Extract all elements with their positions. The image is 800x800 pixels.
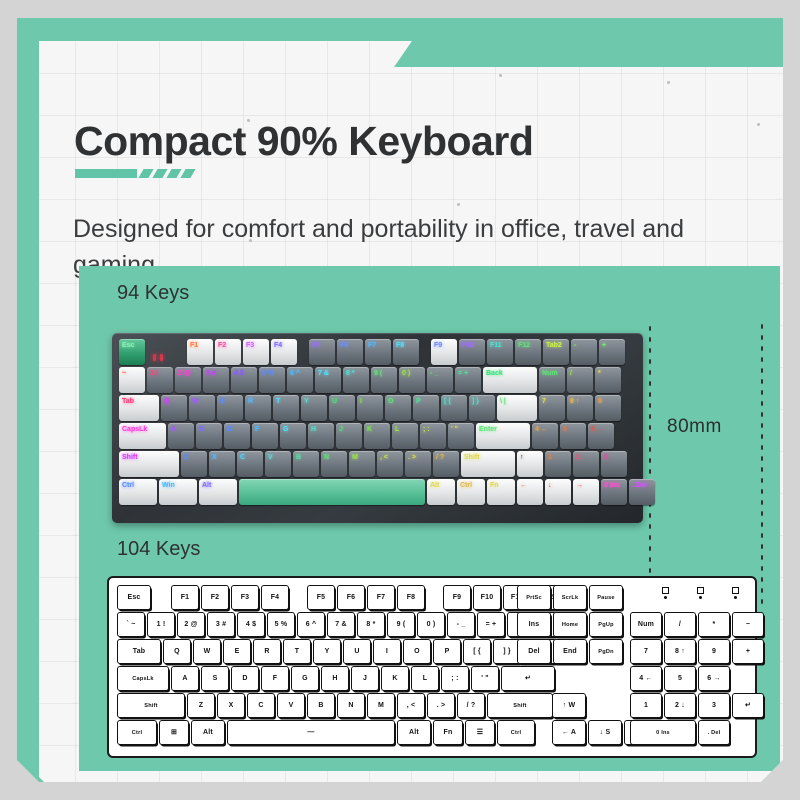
dark-key-row: CtrlWinAltAltCtrlFn←↓→0 Ins. Del (119, 479, 636, 505)
dark-key[interactable]: - _ (427, 367, 453, 393)
white-key[interactable]: F5 (307, 585, 335, 610)
white-key[interactable]: Ctrl (497, 720, 535, 745)
white-key[interactable]: 7 (630, 639, 662, 664)
dark-key[interactable]: = + (455, 367, 481, 393)
white-key[interactable]: [ { (463, 639, 491, 664)
dark-key[interactable]: 9 (595, 395, 621, 421)
white-key[interactable]: ← A (552, 720, 586, 745)
indicator-light: ↥ (732, 587, 739, 599)
white-key[interactable]: 8 * (357, 612, 385, 637)
dark-key[interactable]: J (336, 423, 362, 449)
dark-key[interactable]: Num (539, 367, 565, 393)
white-key[interactable]: O (403, 639, 431, 664)
white-key[interactable]: 8 ↑ (664, 639, 696, 664)
dark-key[interactable]: Alt (427, 479, 455, 505)
white-key[interactable]: 1 ! (147, 612, 175, 637)
dark-key[interactable]: . > (405, 451, 431, 477)
dark-key[interactable]: 4 $ (231, 367, 257, 393)
white-key[interactable]: − (732, 612, 764, 637)
dark-key[interactable]: 5 (560, 423, 586, 449)
dark-key[interactable]: P (413, 395, 439, 421)
dark-key[interactable]: Shift (119, 451, 179, 477)
dark-key[interactable]: Tab (119, 395, 159, 421)
dark-key[interactable]: , < (377, 451, 403, 477)
white-key[interactable]: Num (630, 612, 662, 637)
white-key[interactable]: ↵ (732, 693, 764, 718)
white-key[interactable]: = + (477, 612, 505, 637)
white-key[interactable]: W (193, 639, 221, 664)
dark-key[interactable]: ; : (420, 423, 446, 449)
white-key[interactable]: PrtSc (517, 585, 551, 610)
white-key[interactable]: * (698, 612, 730, 637)
dark-key[interactable]: F6 (337, 339, 363, 365)
white-kb-main-cluster: EscF1F2F3F4F5F6F7F8F9F10F11F12` ~1 !2 @3… (117, 585, 561, 747)
white-key[interactable]: F2 (201, 585, 229, 610)
white-key[interactable]: X (217, 693, 245, 718)
white-key[interactable]: Pause (589, 585, 623, 610)
white-key-row: Ctrl⊞Alt—AltFn☰Ctrl (117, 720, 561, 745)
white-key[interactable]: End (553, 639, 587, 664)
white-key[interactable]: Y (313, 639, 341, 664)
dark-key[interactable]: 5 % (259, 367, 285, 393)
dark-key[interactable]: 7 (539, 395, 565, 421)
dark-key[interactable]: Y (301, 395, 327, 421)
dark-key[interactable]: ↓ (545, 479, 571, 505)
dark-key[interactable]: 8 ↑ (567, 395, 593, 421)
dark-key[interactable]: F5 (309, 339, 335, 365)
white-key-row: 78 ↑9+ (630, 639, 764, 664)
poster: Compact 90% Keyboard Designed for comfor… (0, 0, 800, 800)
dark-key[interactable]: F4 (271, 339, 297, 365)
dark-key[interactable]: F7 (365, 339, 391, 365)
paper-area: Compact 90% Keyboard Designed for comfor… (39, 41, 795, 795)
white-key[interactable]: ScrLk (553, 585, 587, 610)
product-panel: 94 Keys 104 Keys 80mm EscF1F2F3F4F5F6F7F… (79, 266, 780, 771)
label-104-keys: 104 Keys (117, 538, 200, 561)
white-key-row: 12 ↓3↵ (630, 693, 764, 718)
dark-key[interactable]: 3 (601, 451, 627, 477)
dark-key[interactable]: F12 (515, 339, 541, 365)
dark-key[interactable]: Ctrl (457, 479, 485, 505)
white-key[interactable]: F3 (231, 585, 259, 610)
dark-key[interactable]: ← (517, 479, 543, 505)
dark-key[interactable]: F10 (459, 339, 485, 365)
white-key[interactable]: CapsLk (117, 666, 169, 691)
dark-key[interactable]: / (567, 367, 593, 393)
dark-key[interactable]: ] } (469, 395, 495, 421)
white-key[interactable]: F6 (337, 585, 365, 610)
white-key[interactable]: F7 (367, 585, 395, 610)
dark-key[interactable]: N (321, 451, 347, 477)
white-key-row: DelEndPgDn (517, 639, 623, 664)
white-key-row: InsHomePgUp (517, 612, 623, 637)
dark-key[interactable]: Q (161, 395, 187, 421)
dark-key[interactable]: G (280, 423, 306, 449)
white-key[interactable]: B (307, 693, 335, 718)
white-key[interactable]: / (664, 612, 696, 637)
outer-green-frame: Compact 90% Keyboard Designed for comfor… (17, 18, 783, 782)
dark-key[interactable]: + (599, 339, 625, 365)
dark-key[interactable]: . Del (629, 479, 655, 505)
dark-key[interactable]: Esc (119, 339, 145, 365)
title-accent-rule (75, 169, 180, 178)
dark-key[interactable]: [ { (441, 395, 467, 421)
white-key-row: ` ~1 !2 @3 #4 $5 %6 ^7 &8 *9 (0 )- _= +← (117, 612, 561, 637)
dark-key[interactable]: * (595, 367, 621, 393)
white-key[interactable]: Alt (397, 720, 431, 745)
key-gap (421, 339, 429, 365)
dark-key[interactable]: 4 ← (532, 423, 558, 449)
white-key[interactable]: - _ (447, 612, 475, 637)
dark-key[interactable]: - (571, 339, 597, 365)
white-key-row: 4 ←56 → (630, 666, 764, 691)
key-gap (291, 585, 305, 610)
white-key[interactable]: Ins (517, 612, 551, 637)
dark-key[interactable]: 6 → (588, 423, 614, 449)
dark-key[interactable]: F2 (215, 339, 241, 365)
white-key[interactable]: 2 ↓ (664, 693, 696, 718)
white-key[interactable]: . > (427, 693, 455, 718)
white-key-row: EscF1F2F3F4F5F6F7F8F9F10F11F12 (117, 585, 561, 610)
dark-key-row: ~1 !2 @3 #4 $5 %6 ^7 &8 *9 (0 )- _= +Bac… (119, 367, 636, 393)
white-key[interactable]: R (253, 639, 281, 664)
dark-key[interactable]: T (273, 395, 299, 421)
dark-key[interactable]: 2 @ (175, 367, 201, 393)
white-key[interactable]: / ? (457, 693, 485, 718)
white-key[interactable]: J (351, 666, 379, 691)
white-key[interactable]: F10 (473, 585, 501, 610)
dark-key[interactable]: CapsLk (119, 423, 166, 449)
dark-key[interactable]: / ? (433, 451, 459, 477)
dark-key[interactable]: → (573, 479, 599, 505)
dark-key[interactable]: F8 (393, 339, 419, 365)
dark-key[interactable]: 0 ) (399, 367, 425, 393)
dark-key[interactable]: A (168, 423, 194, 449)
white-key[interactable]: 2 @ (177, 612, 205, 637)
dark-key[interactable]: 3 # (203, 367, 229, 393)
white-kb-indicator-lights: 1A↥ (662, 587, 739, 599)
white-key[interactable]: Q (163, 639, 191, 664)
status-led-group (147, 339, 185, 365)
white-key[interactable]: Alt (191, 720, 225, 745)
dark-key-row: TabQWERTYUIOP[ {] }\ |78 ↑9 (119, 395, 636, 421)
dark-key[interactable]: F9 (431, 339, 457, 365)
dark-key[interactable] (239, 479, 425, 505)
white-key-row: ShiftZXCVBNM, <. >/ ?Shift (117, 693, 561, 718)
label-94-keys: 94 Keys (117, 282, 189, 305)
white-key[interactable]: 3 (698, 693, 730, 718)
indicator-light: 1 (662, 587, 669, 599)
white-key[interactable]: 5 % (267, 612, 295, 637)
dark-key[interactable]: R (245, 395, 271, 421)
white-key-row: PrtScScrLkPause (517, 585, 623, 610)
white-key[interactable]: G (291, 666, 319, 691)
white-key[interactable]: Del (517, 639, 551, 664)
white-key[interactable]: U (343, 639, 371, 664)
dark-key[interactable]: D (224, 423, 250, 449)
white-kb-numpad-cluster: Num/*−78 ↑9+4 ←56 →12 ↓3↵0 Ins. Del (630, 612, 764, 747)
white-key[interactable]: , < (397, 693, 425, 718)
dark-key[interactable]: 8 * (343, 367, 369, 393)
white-key[interactable]: P (433, 639, 461, 664)
dark-key[interactable]: L (392, 423, 418, 449)
dark-key[interactable]: F (252, 423, 278, 449)
white-key[interactable]: S (201, 666, 229, 691)
white-key[interactable]: F1 (171, 585, 199, 610)
white-key[interactable]: F8 (397, 585, 425, 610)
dark-key[interactable]: Alt (199, 479, 237, 505)
dark-key[interactable]: Tab2 (543, 339, 569, 365)
dark-key[interactable]: F3 (243, 339, 269, 365)
white-key[interactable]: L (411, 666, 439, 691)
dark-key[interactable]: U (329, 395, 355, 421)
white-key[interactable]: Shift (487, 693, 553, 718)
white-key[interactable]: ; : (441, 666, 469, 691)
dark-key[interactable]: X (209, 451, 235, 477)
dark-key[interactable]: 7 & (315, 367, 341, 393)
dark-key[interactable]: K (364, 423, 390, 449)
measure-dotted-line-left (648, 323, 652, 583)
white-key[interactable]: ☰ (465, 720, 495, 745)
white-key[interactable]: E (223, 639, 251, 664)
dark-key[interactable]: ~ (119, 367, 145, 393)
indicator-light: A (697, 587, 704, 599)
white-key[interactable]: ' " (471, 666, 499, 691)
white-key[interactable]: 5 (664, 666, 696, 691)
white-key[interactable]: Esc (117, 585, 151, 610)
dark-key[interactable]: 1 (545, 451, 571, 477)
dark-key[interactable]: Win (159, 479, 197, 505)
dark-key[interactable]: 6 ^ (287, 367, 313, 393)
white-key[interactable]: PgDn (589, 639, 623, 664)
dark-key[interactable]: Ctrl (119, 479, 157, 505)
white-key[interactable]: Ctrl (117, 720, 157, 745)
dark-key[interactable]: 0 Ins (601, 479, 627, 505)
white-key[interactable]: 1 (630, 693, 662, 718)
key-gap (153, 585, 169, 610)
dimension-label-80mm: 80mm (667, 416, 722, 438)
white-key[interactable]: V (277, 693, 305, 718)
white-key[interactable]: N (337, 693, 365, 718)
white-key[interactable]: Home (553, 612, 587, 637)
white-key[interactable]: 0 Ins (630, 720, 696, 745)
white-key[interactable]: 3 # (207, 612, 235, 637)
white-key[interactable]: K (381, 666, 409, 691)
white-key[interactable]: Fn (433, 720, 463, 745)
dark-key[interactable]: C (237, 451, 263, 477)
white-key[interactable]: F (261, 666, 289, 691)
white-key[interactable]: M (367, 693, 395, 718)
white-key[interactable]: T (283, 639, 311, 664)
white-key[interactable]: Tab (117, 639, 161, 664)
dark-key[interactable]: W (189, 395, 215, 421)
white-key-row: TabQWERTYUIOP[ {] }\ | (117, 639, 561, 664)
white-key[interactable]: + (732, 639, 764, 664)
dark-rgb-keyboard[interactable]: EscF1F2F3F4F5F6F7F8F9F10F11F12Tab2-+~1 !… (112, 333, 643, 523)
white-key[interactable]: F4 (261, 585, 289, 610)
white-key[interactable]: ⊞ (159, 720, 189, 745)
dark-key[interactable]: F11 (487, 339, 513, 365)
dark-key[interactable]: Shift (461, 451, 515, 477)
white-key[interactable]: A (171, 666, 199, 691)
white-kb-nav-cluster: PrtScScrLkPauseInsHomePgUpDelEndPgDn (517, 585, 623, 666)
dark-key-row: CapsLkASDFGHJKL; :' "Enter4 ←56 → (119, 423, 636, 449)
white-key[interactable]: 9 ( (387, 612, 415, 637)
measure-dotted-line-right (760, 321, 764, 609)
dark-key[interactable]: 1 ! (147, 367, 173, 393)
dark-key-row: ShiftZXCVBNM, <. >/ ?Shift↑12 ↓3 (119, 451, 636, 477)
white-key[interactable]: ↑ W (552, 693, 586, 718)
key-gap (299, 339, 307, 365)
white-key[interactable]: PgUp (589, 612, 623, 637)
white-key[interactable]: Shift (117, 693, 185, 718)
white-key[interactable]: I (373, 639, 401, 664)
page-title: Compact 90% Keyboard (74, 118, 533, 165)
white-key-row: CapsLkASDFGHJKL; :' "↵ (117, 666, 561, 691)
dark-key[interactable]: F1 (187, 339, 213, 365)
dark-key-row: EscF1F2F3F4F5F6F7F8F9F10F11F12Tab2-+ (119, 339, 636, 365)
dark-key[interactable]: \ | (497, 395, 537, 421)
dark-key[interactable]: O (385, 395, 411, 421)
dark-key[interactable]: 2 ↓ (573, 451, 599, 477)
dark-key[interactable]: V (265, 451, 291, 477)
white-lineart-keyboard[interactable]: EscF1F2F3F4F5F6F7F8F9F10F11F12` ~1 !2 @3… (107, 576, 757, 758)
white-key[interactable]: Z (187, 693, 215, 718)
white-key[interactable]: . Del (698, 720, 730, 745)
dark-key[interactable]: ↑ (517, 451, 543, 477)
dark-key[interactable]: H (308, 423, 334, 449)
white-key[interactable]: 6 ^ (297, 612, 325, 637)
white-key[interactable]: 9 (698, 639, 730, 664)
white-key[interactable]: C (247, 693, 275, 718)
dark-key[interactable]: Z (181, 451, 207, 477)
white-key[interactable]: — (227, 720, 395, 745)
white-key[interactable]: 4 ← (630, 666, 662, 691)
dark-key[interactable]: S (196, 423, 222, 449)
white-key[interactable]: 6 → (698, 666, 730, 691)
white-key[interactable]: F9 (443, 585, 471, 610)
white-key[interactable]: 7 & (327, 612, 355, 637)
dark-key[interactable]: ' " (448, 423, 474, 449)
key-gap (427, 585, 441, 610)
dark-key[interactable]: E (217, 395, 243, 421)
dark-key[interactable]: Back (483, 367, 537, 393)
dark-key[interactable]: Enter (476, 423, 530, 449)
white-key[interactable]: H (321, 666, 349, 691)
dark-key[interactable]: Fn (487, 479, 515, 505)
white-key[interactable]: 0 ) (417, 612, 445, 637)
white-key[interactable]: 4 $ (237, 612, 265, 637)
white-key[interactable]: ` ~ (117, 612, 145, 637)
dark-key[interactable]: M (349, 451, 375, 477)
dark-key[interactable]: 9 ( (371, 367, 397, 393)
white-key-row: Num/*− (630, 612, 764, 637)
white-key-row: 0 Ins. Del (630, 720, 764, 745)
dark-key[interactable]: B (293, 451, 319, 477)
white-key[interactable]: ↓ S (588, 720, 622, 745)
white-key[interactable]: ↵ (501, 666, 555, 691)
white-key[interactable]: D (231, 666, 259, 691)
dark-key[interactable]: I (357, 395, 383, 421)
